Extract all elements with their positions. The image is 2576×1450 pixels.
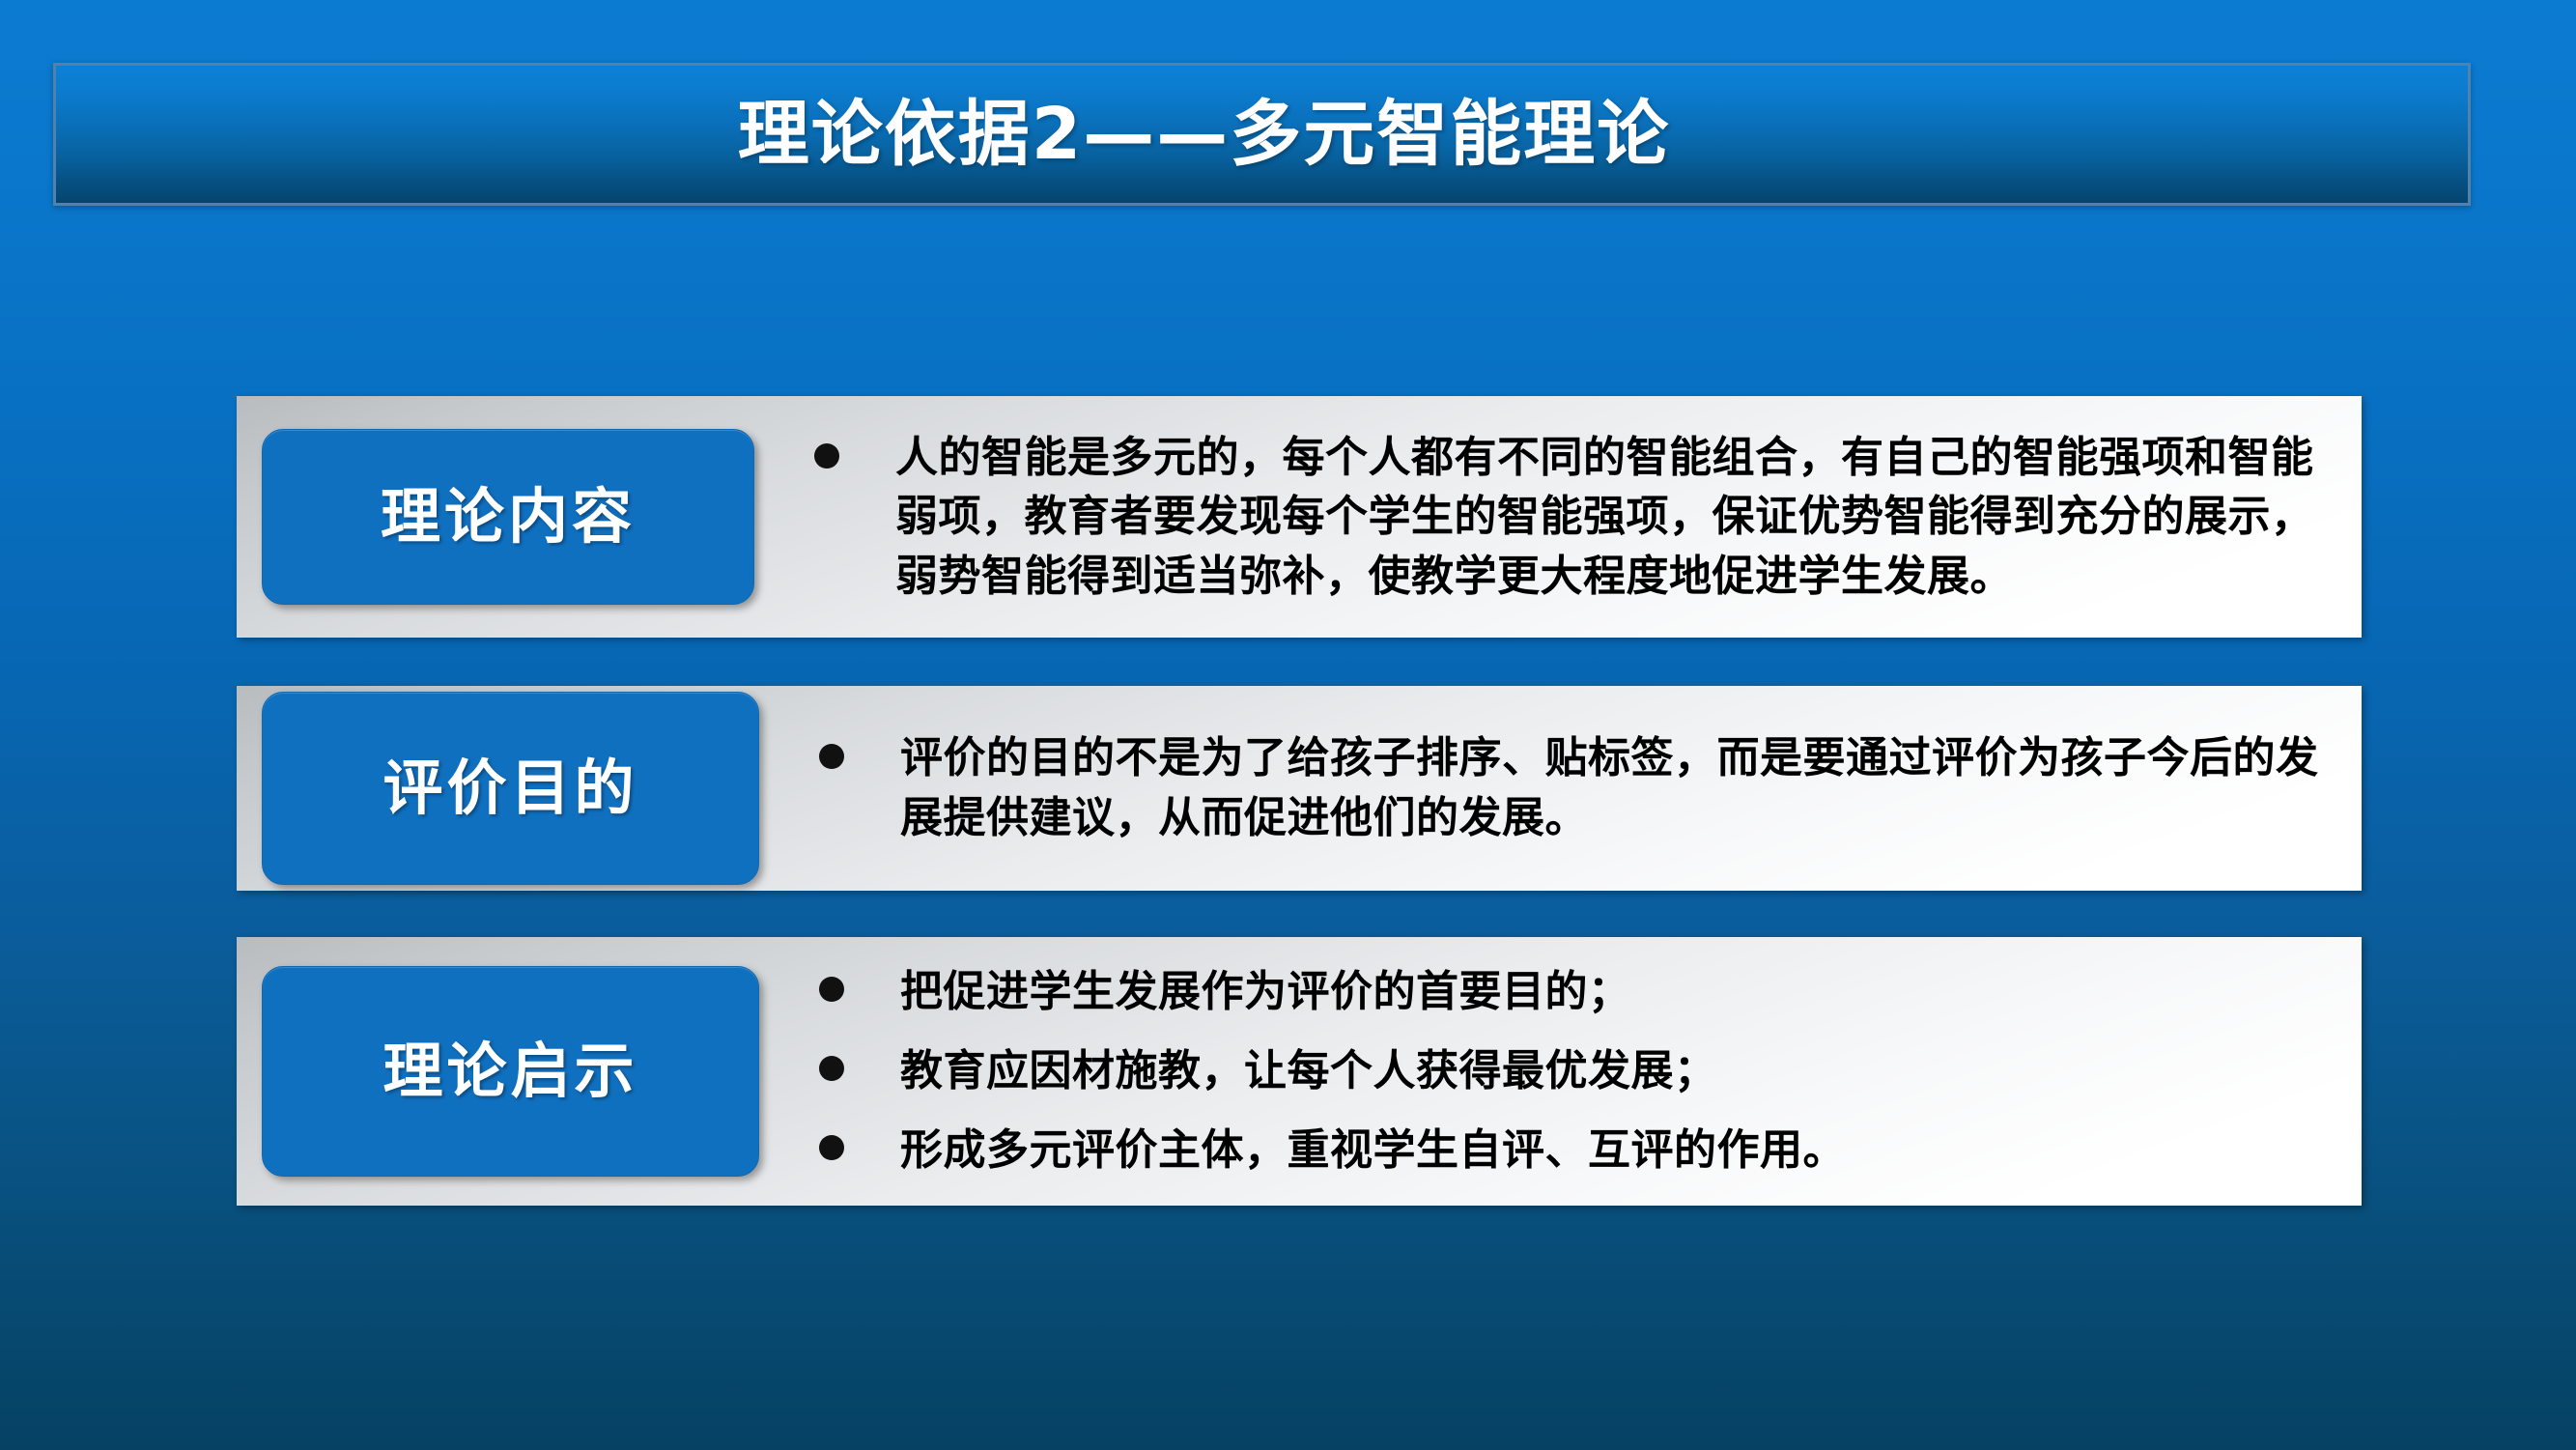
list-item: 教育应因材施教，让每个人获得最优发展；	[819, 1042, 2327, 1100]
row-label-text: 理论内容	[381, 487, 636, 547]
row-body: 人的智能是多元的，每个人都有不同的智能组合，有自己的智能强项和智能弱项，教育者要…	[754, 428, 2336, 607]
row-label-theory-insight[interactable]: 理论启示	[262, 966, 759, 1177]
bullet-icon	[814, 443, 839, 469]
bullet-icon	[819, 1056, 844, 1081]
content-row: 理论内容 人的智能是多元的，每个人都有不同的智能组合，有自己的智能强项和智能弱项…	[237, 396, 2362, 638]
slide-canvas: 理论依据2——多元智能理论 理论内容 人的智能是多元的，每个人都有不同的智能组合…	[0, 0, 2576, 1450]
row-label-evaluation-purpose[interactable]: 评价目的	[262, 692, 759, 885]
content-row: 评价目的 评价的目的不是为了给孩子排序、贴标签，而是要通过评价为孩子今后的发展提…	[237, 686, 2362, 891]
bullet-icon	[819, 1135, 844, 1160]
bullet-text: 评价的目的不是为了给孩子排序、贴标签，而是要通过评价为孩子今后的发展提供建议，从…	[900, 728, 2327, 847]
list-item: 人的智能是多元的，每个人都有不同的智能组合，有自己的智能强项和智能弱项，教育者要…	[814, 428, 2327, 607]
bullet-icon	[819, 977, 844, 1002]
row-label-text: 评价目的	[382, 758, 637, 818]
bullet-text: 形成多元评价主体，重视学生自评、互评的作用。	[900, 1122, 2327, 1180]
content-row: 理论启示 把促进学生发展作为评价的首要目的； 教育应因材施教，让每个人获得最优发…	[237, 937, 2362, 1206]
page-title: 理论依据2——多元智能理论	[56, 99, 2468, 170]
list-item: 把促进学生发展作为评价的首要目的；	[819, 963, 2327, 1021]
bullet-text: 人的智能是多元的，每个人都有不同的智能组合，有自己的智能强项和智能弱项，教育者要…	[895, 428, 2327, 607]
row-body: 把促进学生发展作为评价的首要目的； 教育应因材施教，让每个人获得最优发展； 形成…	[759, 963, 2336, 1180]
row-label-theory-content[interactable]: 理论内容	[262, 429, 754, 605]
slide-title-banner: 理论依据2——多元智能理论	[53, 63, 2471, 206]
list-item: 评价的目的不是为了给孩子排序、贴标签，而是要通过评价为孩子今后的发展提供建议，从…	[819, 728, 2327, 847]
content-rows: 理论内容 人的智能是多元的，每个人都有不同的智能组合，有自己的智能强项和智能弱项…	[237, 396, 2362, 1206]
row-label-text: 理论启示	[382, 1041, 637, 1101]
bullet-icon	[819, 744, 844, 769]
list-item: 形成多元评价主体，重视学生自评、互评的作用。	[819, 1122, 2327, 1180]
row-body: 评价的目的不是为了给孩子排序、贴标签，而是要通过评价为孩子今后的发展提供建议，从…	[759, 728, 2336, 847]
bullet-text: 教育应因材施教，让每个人获得最优发展；	[900, 1042, 2327, 1100]
bullet-text: 把促进学生发展作为评价的首要目的；	[900, 963, 2327, 1021]
